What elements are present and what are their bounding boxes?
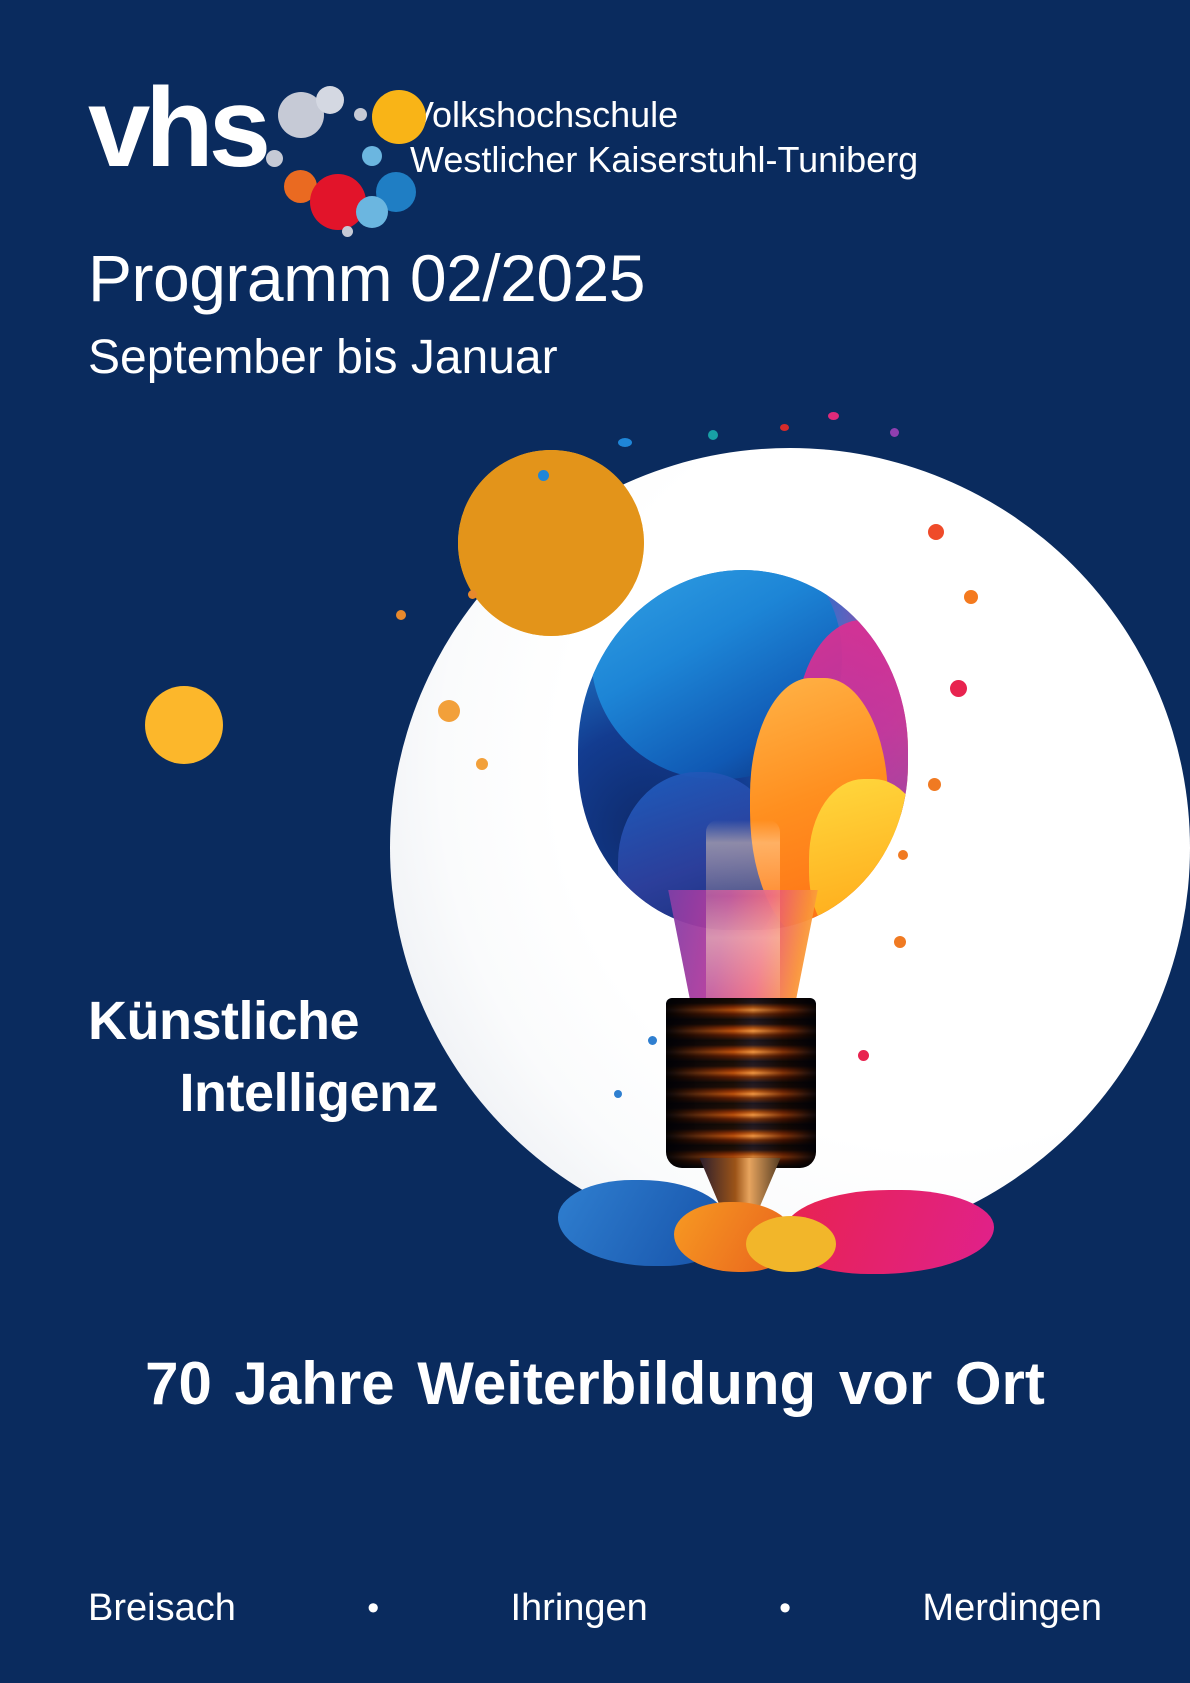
page-title: Programm 02/2025	[88, 243, 645, 313]
paint-droplet-icon	[396, 610, 406, 620]
program-cover-poster: vhs Volkshochschule Westlicher Kaiserstu…	[0, 0, 1190, 1683]
logo-dot-red-large-icon	[310, 174, 366, 230]
vhs-logo-block: vhs Volkshochschule Westlicher Kaiserstu…	[88, 78, 918, 206]
paint-droplet-icon	[614, 1090, 622, 1098]
paint-droplet-icon	[928, 524, 944, 540]
topic-heading: Künstliche Intelligenz	[88, 985, 438, 1129]
paint-droplet-icon	[468, 590, 477, 599]
logo-dot-yellow-large-icon	[372, 90, 426, 144]
paint-droplet-icon	[950, 680, 967, 697]
lightbulb-illustration	[498, 490, 1058, 1280]
logo-dot-grey-dot-icon	[342, 226, 353, 237]
paint-droplet-icon	[538, 470, 549, 481]
location-ihringen: Ihringen	[510, 1585, 647, 1631]
paint-droplet-icon	[890, 428, 899, 437]
vhs-wordmark-text: vhs	[88, 72, 266, 184]
logo-dot-grey-medium-icon	[316, 86, 344, 114]
yellow-circle-small-decoration	[145, 686, 223, 764]
location-merdingen: Merdingen	[922, 1585, 1102, 1631]
paint-droplet-icon	[780, 424, 789, 431]
organisation-name: Volkshochschule Westlicher Kaiserstuhl-T…	[410, 92, 918, 182]
organisation-name-line-1: Volkshochschule	[410, 92, 918, 137]
paint-droplet-icon	[648, 1036, 657, 1045]
paint-droplet-icon	[898, 850, 908, 860]
paint-droplet-icon	[828, 412, 839, 420]
logo-dot-grey-tiny-icon	[354, 108, 367, 121]
paint-droplet-icon	[964, 590, 978, 604]
paint-droplet-icon	[476, 758, 488, 770]
locations-footer: Breisach • Ihringen • Merdingen	[88, 1585, 1102, 1631]
vhs-wordmark: vhs	[88, 78, 388, 206]
topic-heading-line-1: Künstliche	[88, 985, 438, 1057]
logo-dot-lightblue-icon	[356, 196, 388, 228]
paint-droplet-icon	[894, 936, 906, 948]
location-breisach: Breisach	[88, 1585, 236, 1631]
lightbulb-screw-base	[666, 998, 816, 1168]
cover-artwork	[0, 420, 1190, 1280]
logo-dot-lightblue-small-icon	[362, 146, 382, 166]
paint-droplet-icon	[928, 778, 941, 791]
lightbulb-filament	[706, 820, 780, 1010]
organisation-name-line-2: Westlicher Kaiserstuhl-Tuniberg	[410, 137, 918, 182]
paint-droplet-icon	[708, 430, 718, 440]
anniversary-tagline: 70 Jahre Weiterbildung vor Ort	[0, 1348, 1190, 1420]
page-subtitle: September bis Januar	[88, 330, 558, 386]
paint-pool-yellow	[746, 1216, 836, 1272]
paint-droplet-icon	[618, 438, 632, 447]
bullet-separator-icon: •	[779, 1589, 791, 1627]
bullet-separator-icon: •	[367, 1589, 379, 1627]
topic-heading-line-2: Intelligenz	[88, 1057, 438, 1129]
logo-dot-grey-small-icon	[266, 150, 283, 167]
paint-droplet-icon	[858, 1050, 869, 1061]
paint-droplet-icon	[438, 700, 460, 722]
